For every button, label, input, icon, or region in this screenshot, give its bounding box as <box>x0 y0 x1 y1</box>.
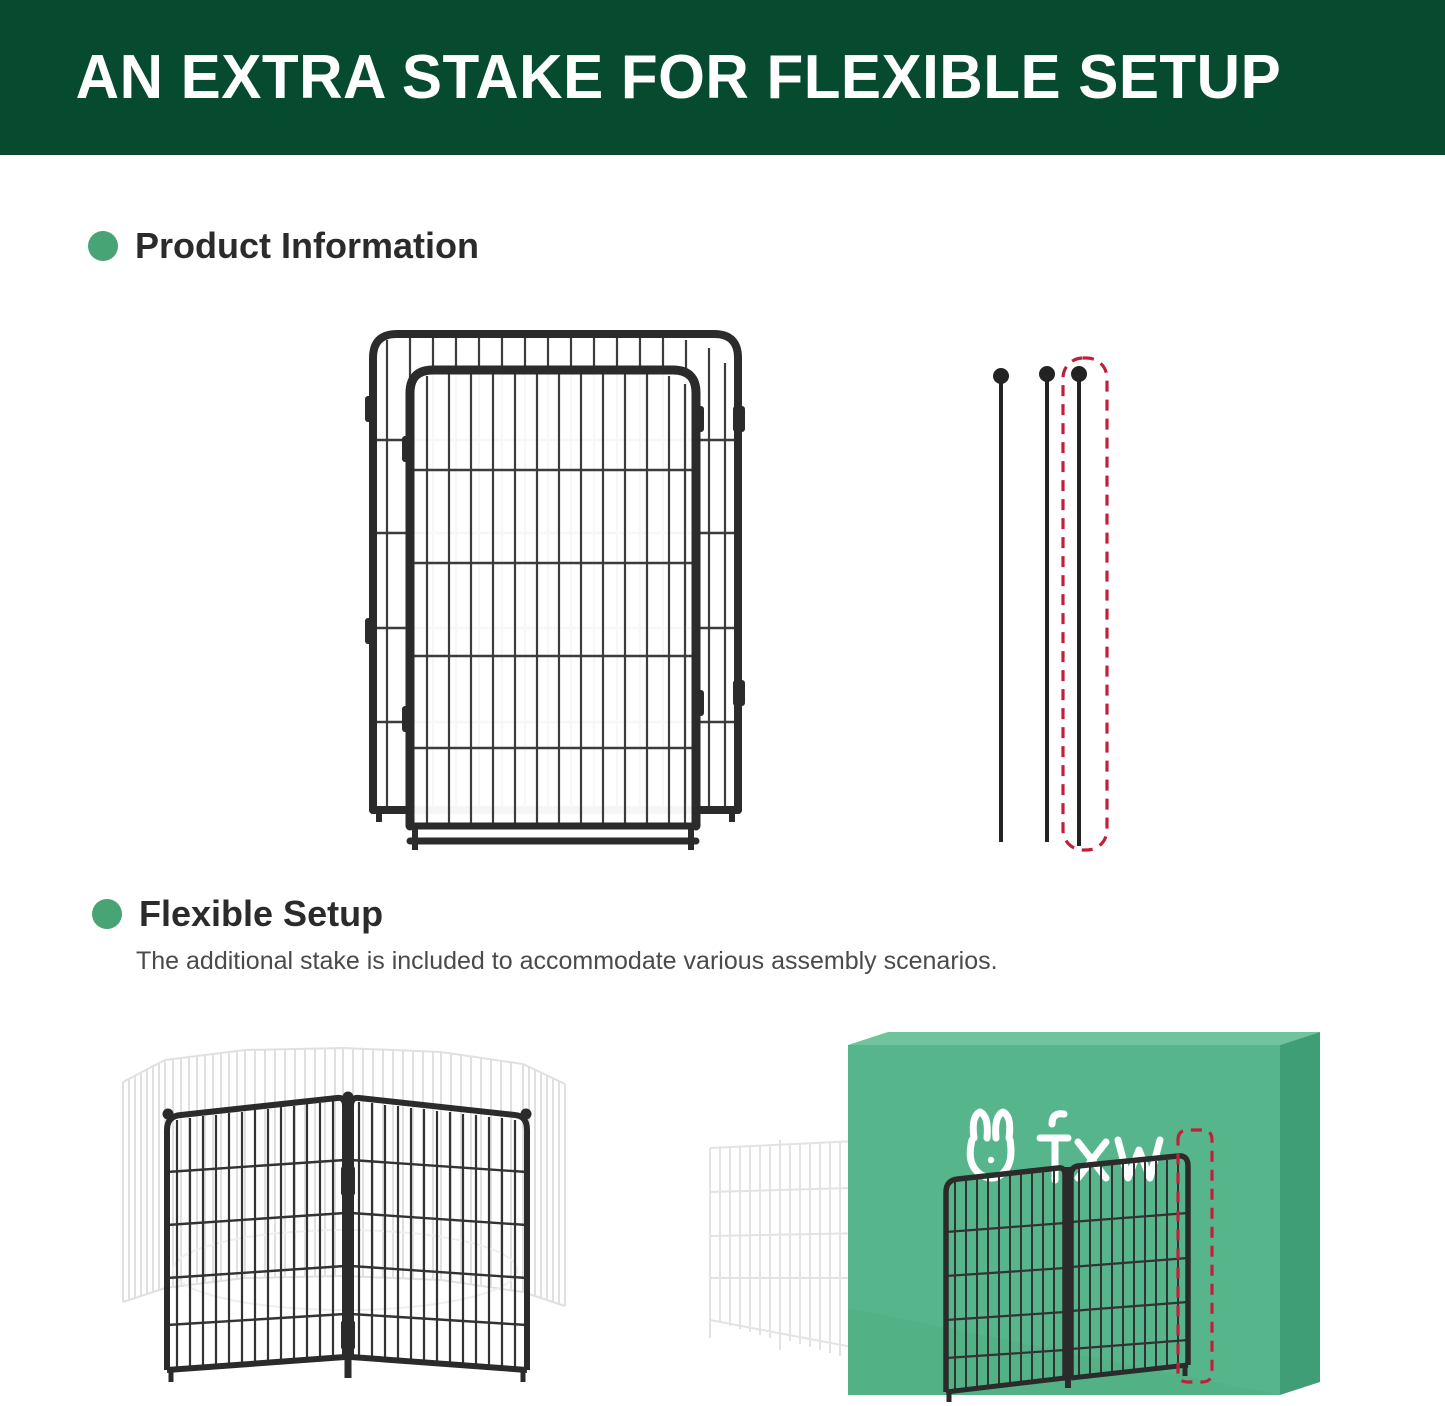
connector-tab <box>733 680 745 706</box>
stake-tip <box>163 1109 174 1120</box>
branded-wall <box>848 1032 1320 1395</box>
active-panel-left <box>163 1098 346 1370</box>
fence-panels-illustration <box>355 318 775 858</box>
section-title-product-information: Product Information <box>135 228 479 264</box>
section-title-flexible-setup: Flexible Setup <box>139 896 383 932</box>
connector-tab <box>365 396 377 422</box>
connector-tab <box>365 618 377 644</box>
octagon-playpen-illustration <box>95 1020 615 1400</box>
connector-tab <box>402 436 414 462</box>
connector-tab <box>733 406 745 432</box>
wall-scene-illustration <box>680 1020 1320 1406</box>
stake-3-extra <box>1071 366 1087 846</box>
section-heading-product-information: Product Information <box>88 228 479 264</box>
page-title: AN EXTRA STAKE FOR FLEXIBLE SETUP <box>0 47 1281 109</box>
front-fence-panel <box>402 370 704 850</box>
bullet-dot-icon <box>92 899 122 929</box>
stakes-illustration <box>975 350 1125 860</box>
header-banner: AN EXTRA STAKE FOR FLEXIBLE SETUP <box>0 0 1445 155</box>
infographic-page: AN EXTRA STAKE FOR FLEXIBLE SETUP Produc… <box>0 0 1445 1406</box>
stake-highlight-outline <box>1063 358 1107 850</box>
connector-tab <box>692 690 704 716</box>
stake-2 <box>1039 366 1055 842</box>
section-subtitle-flexible-setup: The additional stake is included to acco… <box>136 947 998 976</box>
stake-1 <box>993 368 1009 842</box>
section-heading-flexible-setup: Flexible Setup <box>92 896 383 932</box>
connector-tab <box>402 706 414 732</box>
connector-tab <box>692 406 704 432</box>
stake-tip <box>521 1109 532 1120</box>
bullet-dot-icon <box>88 231 118 261</box>
